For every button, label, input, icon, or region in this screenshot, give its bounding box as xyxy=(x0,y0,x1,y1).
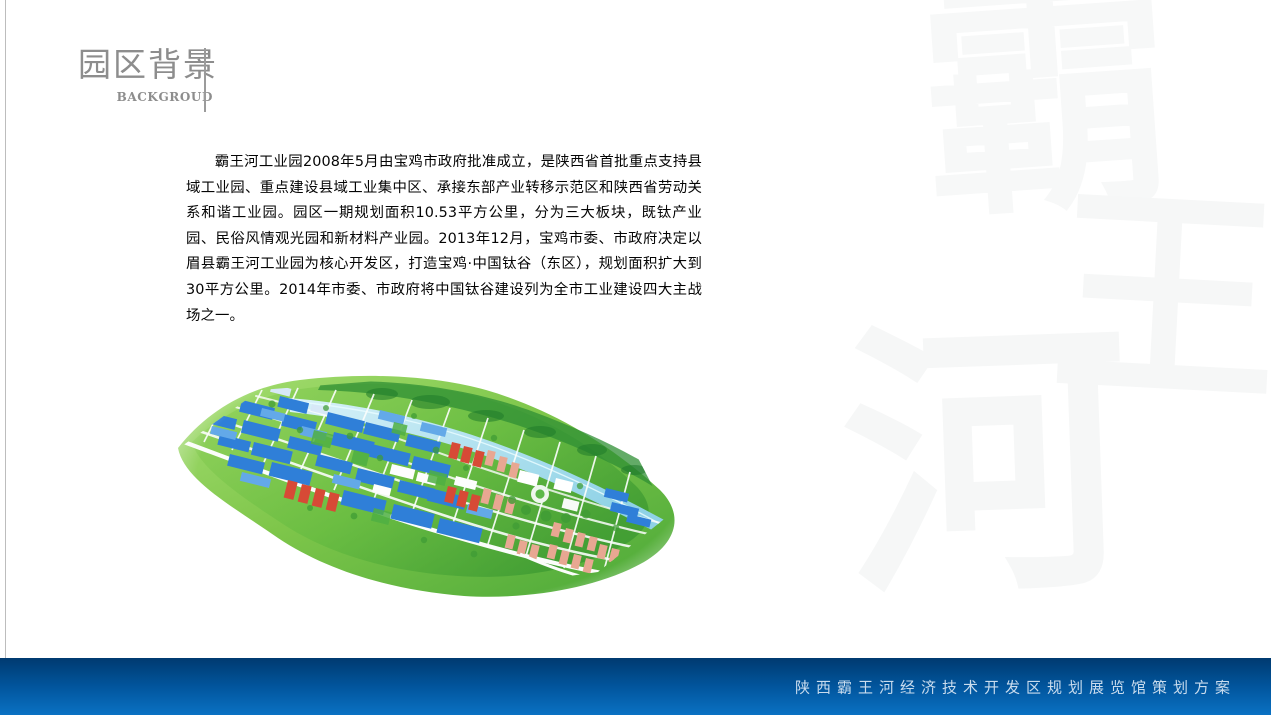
watermark-char-3: 河 xyxy=(838,315,1134,611)
slide-canvas: 霸 王 河 园区背景 BACKGROUD 霸王河工业园2008年5月由宝鸡市政府… xyxy=(0,0,1271,715)
footer-bar: 陕西霸王河经济技术开发区规划展览馆策划方案 xyxy=(0,658,1271,715)
background-paragraph: 霸王河工业园2008年5月由宝鸡市政府批准成立，是陕西省首批重点支持县域工业园、… xyxy=(186,150,702,329)
left-edge-rule xyxy=(5,0,6,658)
watermark-char-2: 王 xyxy=(1047,180,1271,418)
page-subtitle: BACKGROUD xyxy=(78,90,218,104)
aerial-park-rendering xyxy=(168,338,714,616)
title-divider xyxy=(204,48,206,112)
footer-title: 陕西霸王河经济技术开发区规划展览馆策划方案 xyxy=(795,676,1236,697)
page-title-block: 园区背景 BACKGROUD xyxy=(78,44,218,104)
watermark-char-1: 霸 xyxy=(913,0,1182,232)
page-title: 园区背景 xyxy=(78,44,218,85)
edge-fade xyxy=(168,338,714,616)
watermark-calligraphy: 霸 王 河 xyxy=(817,0,1271,650)
aerial-park-illustration xyxy=(168,338,714,616)
